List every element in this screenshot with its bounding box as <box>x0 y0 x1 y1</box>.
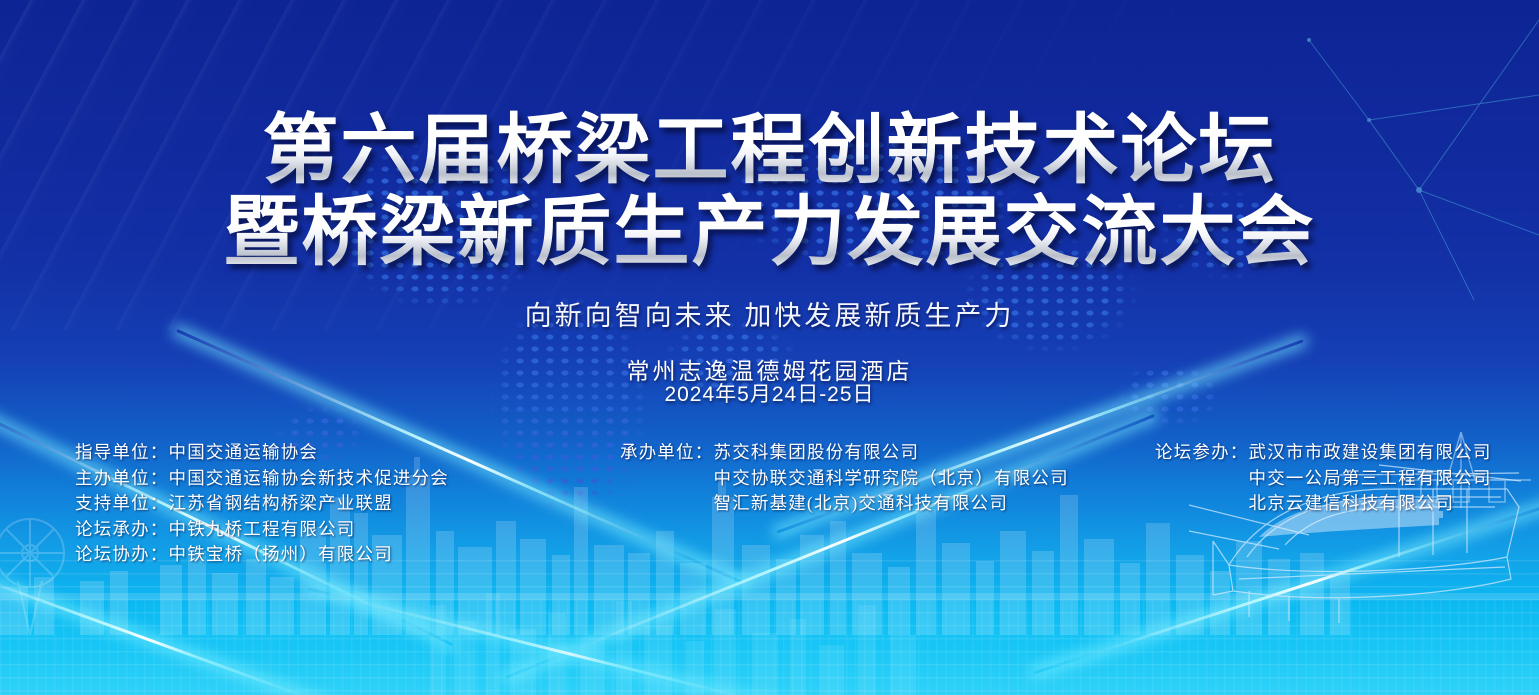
sponsor-value: 中国交通运输协会 <box>169 440 319 466</box>
foreground-skyline-decor <box>0 575 1539 695</box>
sponsor-value: 中国交通运输协会新技术促进分会 <box>169 466 450 492</box>
sponsor-row: 支持单位： 江苏省钢结构桥梁产业联盟 <box>75 491 449 517</box>
data-grid-lines-vertical-decor <box>0 600 1539 695</box>
sponsor-row: 论坛参办： 中交一公局第三工程有限公司 <box>1155 466 1492 492</box>
sponsor-row: 论坛承办： 中铁九桥工程有限公司 <box>75 517 449 543</box>
sponsor-row: 承办单位： 苏交科集团股份有限公司 <box>620 440 1069 466</box>
date-text: 2024年5月24日-25日 <box>0 378 1539 408</box>
sponsor-column-left: 指导单位： 中国交通运输协会 主办单位： 中国交通运输协会新技术促进分会 支持单… <box>75 440 449 568</box>
title-line-2: 暨桥梁新质生产力发展交流大会 <box>0 192 1539 274</box>
sponsor-column-middle: 承办单位： 苏交科集团股份有限公司 承办单位： 中交协联交通科学研究院（北京）有… <box>620 440 1069 517</box>
data-grid-lines-decor <box>0 560 1539 695</box>
sponsor-value: 中铁九桥工程有限公司 <box>169 517 356 543</box>
sponsor-value: 江苏省钢结构桥梁产业联盟 <box>169 491 393 517</box>
sponsor-row: 论坛参办： 武汉市市政建设集团有限公司 <box>1155 440 1492 466</box>
sponsor-label: 论坛协办： <box>75 542 169 568</box>
conference-banner: 第六届桥梁工程创新技术论坛 暨桥梁新质生产力发展交流大会 向新向智向未来 加快发… <box>0 0 1539 695</box>
sponsor-column-right: 论坛参办： 武汉市市政建设集团有限公司 论坛参办： 中交一公局第三工程有限公司 … <box>1155 440 1492 517</box>
sponsor-label: 论坛承办： <box>75 517 169 543</box>
sponsor-value: 武汉市市政建设集团有限公司 <box>1249 440 1492 466</box>
sponsor-row: 论坛协办： 中铁宝桥（扬州）有限公司 <box>75 542 449 568</box>
sponsor-row: 承办单位： 智汇新基建(北京)交通科技有限公司 <box>620 491 1069 517</box>
banner-title: 第六届桥梁工程创新技术论坛 暨桥梁新质生产力发展交流大会 <box>0 110 1539 274</box>
sponsor-value: 北京云建信科技有限公司 <box>1249 491 1455 517</box>
sponsor-label: 指导单位： <box>75 440 169 466</box>
sponsor-row: 主办单位： 中国交通运输协会新技术促进分会 <box>75 466 449 492</box>
sponsor-label: 主办单位： <box>75 466 169 492</box>
sponsor-label: 论坛参办： <box>1155 440 1249 466</box>
sponsor-value: 苏交科集团股份有限公司 <box>714 440 920 466</box>
sponsor-value: 中交一公局第三工程有限公司 <box>1249 466 1492 492</box>
sponsor-row: 承办单位： 中交协联交通科学研究院（北京）有限公司 <box>620 466 1069 492</box>
sponsor-columns: 指导单位： 中国交通运输协会 主办单位： 中国交通运输协会新技术促进分会 支持单… <box>0 440 1539 570</box>
sponsor-value: 中交协联交通科学研究院（北京）有限公司 <box>714 466 1069 492</box>
sponsor-row: 指导单位： 中国交通运输协会 <box>75 440 449 466</box>
sponsor-row: 论坛参办： 北京云建信科技有限公司 <box>1155 491 1492 517</box>
banner-subtitle: 向新向智向未来 加快发展新质生产力 <box>0 294 1539 333</box>
sponsor-value: 智汇新基建(北京)交通科技有限公司 <box>714 491 1009 517</box>
sponsor-label: 支持单位： <box>75 491 169 517</box>
sponsor-label: 承办单位： <box>620 440 714 466</box>
title-line-1: 第六届桥梁工程创新技术论坛 <box>0 110 1539 192</box>
sponsor-value: 中铁宝桥（扬州）有限公司 <box>169 542 393 568</box>
